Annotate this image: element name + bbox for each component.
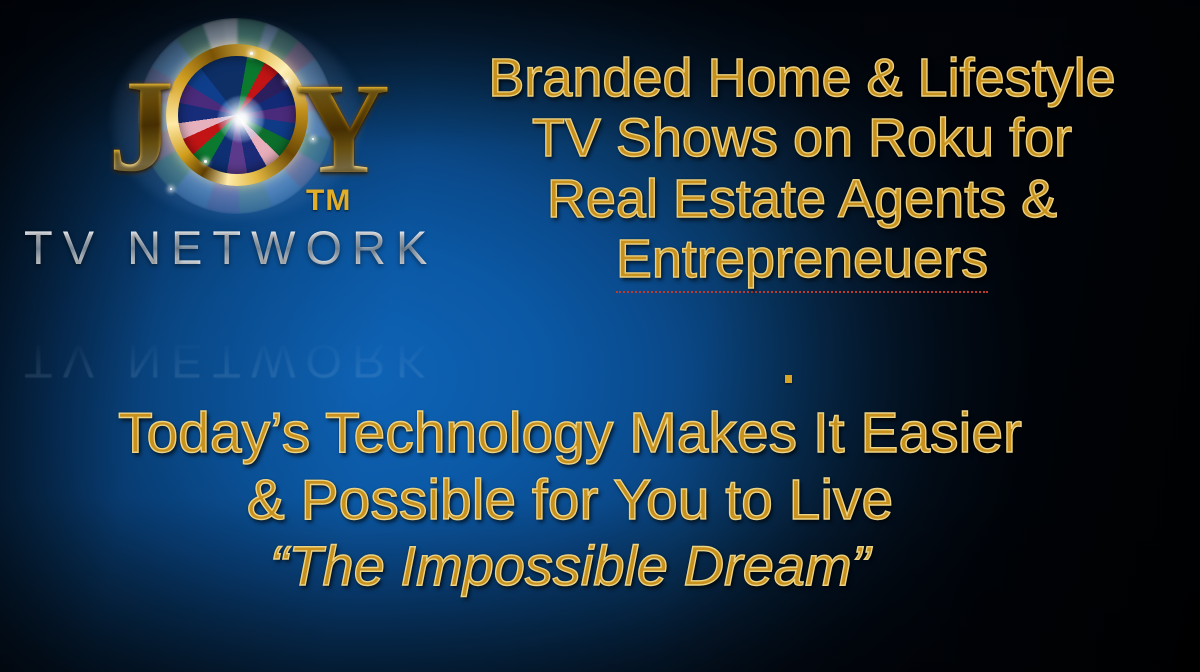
message-line-3-quote: “The Impossible Dream” xyxy=(20,533,1120,599)
headline-line-2: TV Shows on Roku for xyxy=(418,108,1186,168)
logo-wordmark-reflection: TV NETWORK xyxy=(24,334,437,389)
headline-line-4-wrapper: Entrepreneuers xyxy=(418,229,1186,292)
headline-line-3: Real Estate Agents & xyxy=(418,169,1186,229)
message-block: Today’s Technology Makes It Easier & Pos… xyxy=(20,400,1120,599)
presentation-slide: J O Y TM TV NETWORK TV NETWORK Branded H… xyxy=(0,0,1200,672)
message-line-2: & Possible for You to Live xyxy=(20,467,1120,534)
bullet-marker xyxy=(785,375,792,383)
logo-letter-j: J xyxy=(108,60,174,192)
headline-block: Branded Home & Lifestyle TV Shows on Rok… xyxy=(418,48,1186,293)
logo-letter-y: Y xyxy=(296,64,390,194)
joy-tv-network-logo: J O Y TM TV NETWORK TV NETWORK xyxy=(8,12,448,282)
joy-logo-mark: J O Y TM xyxy=(100,18,400,223)
headline-line-1: Branded Home & Lifestyle xyxy=(418,48,1186,108)
message-line-1: Today’s Technology Makes It Easier xyxy=(20,400,1120,467)
logo-trademark-symbol: TM xyxy=(306,184,351,218)
logo-wordmark: TV NETWORK xyxy=(24,220,437,275)
headline-line-4-misspelled: Entrepreneuers xyxy=(616,229,988,292)
